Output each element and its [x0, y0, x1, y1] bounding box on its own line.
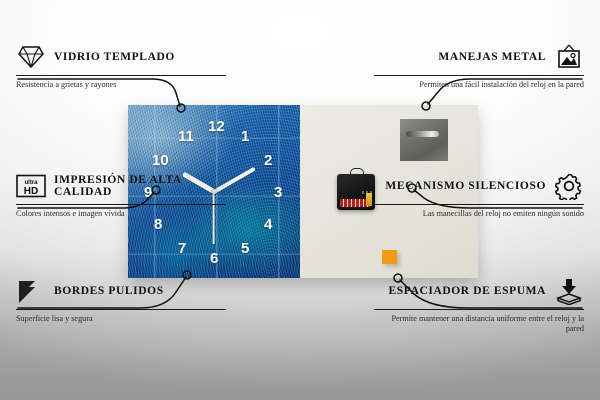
clock-number-12: 12 — [208, 119, 225, 134]
foam-spacer — [382, 250, 397, 264]
feature-divider — [16, 75, 226, 76]
svg-text:HD: HD — [24, 186, 38, 197]
gear-icon — [554, 171, 584, 201]
feature-title: VIDRIO TEMPLADO — [54, 51, 226, 64]
feature-divider — [16, 204, 226, 205]
feature-espaciador-espuma: ESPACIADOR DE ESPUMA Permite mantener un… — [374, 276, 584, 334]
feature-description: Superficie lisa y segura — [16, 314, 226, 324]
feature-title: IMPRESIÓN DE ALTA CALIDAD — [54, 174, 226, 199]
movement-label-strip — [340, 199, 370, 207]
clock-number-4: 4 — [264, 217, 272, 232]
quartz-movement — [337, 174, 375, 210]
feature-vidrio-templado: VIDRIO TEMPLADO Resistencia a grietas y … — [16, 42, 226, 90]
polished-edges-icon — [16, 276, 46, 306]
clock-number-5: 5 — [241, 241, 249, 256]
feature-title: MANEJAS METAL — [374, 51, 546, 64]
feature-impresion-alta-calidad: ultra HD IMPRESIÓN DE ALTA CALIDAD Color… — [16, 171, 226, 219]
feature-description: Permiten una fácil instalación del reloj… — [374, 80, 584, 90]
feature-divider — [374, 75, 584, 76]
ultra-hd-icon: ultra HD — [16, 171, 46, 201]
clock-number-2: 2 — [264, 153, 272, 168]
clock-number-1: 1 — [241, 129, 249, 144]
feature-description: Colores intensos e imagen vívida — [16, 209, 226, 219]
feature-description: Permite mantener una distancia uniforme … — [374, 314, 584, 334]
feature-title: BORDES PULIDOS — [54, 285, 226, 298]
feature-divider — [374, 204, 584, 205]
feature-manejas-metal: MANEJAS METAL Permiten una fácil instala… — [374, 42, 584, 90]
feature-description: Resistencia a grietas y rayones — [16, 80, 226, 90]
diamond-icon — [16, 42, 46, 72]
feature-bordes-pulidos: BORDES PULIDOS Superficie lisa y segura — [16, 276, 226, 324]
clock-number-6: 6 — [210, 251, 218, 266]
infographic-canvas: 12 1 2 3 4 5 6 7 8 9 10 11 — [0, 0, 600, 400]
clock-number-10: 10 — [152, 153, 169, 168]
feature-title: MECANISMO SILENCIOSO — [374, 180, 546, 193]
movement-hanger-loop — [350, 168, 364, 175]
clock-number-7: 7 — [178, 241, 186, 256]
hanger-slot — [406, 131, 439, 136]
clock-number-11: 11 — [178, 129, 194, 144]
feature-divider — [374, 309, 584, 310]
feature-divider — [16, 309, 226, 310]
clock-number-3: 3 — [274, 185, 282, 200]
foam-spacer-icon — [554, 276, 584, 306]
feature-title: ESPACIADOR DE ESPUMA — [374, 285, 546, 298]
framed-picture-icon — [554, 42, 584, 72]
clock-number-8: 8 — [154, 217, 162, 232]
feature-description: Las manecillas del reloj no emiten ningú… — [374, 209, 584, 219]
metal-hanger-plate — [400, 119, 448, 161]
feature-mecanismo-silencioso: MECANISMO SILENCIOSO Las manecillas del … — [374, 171, 584, 219]
